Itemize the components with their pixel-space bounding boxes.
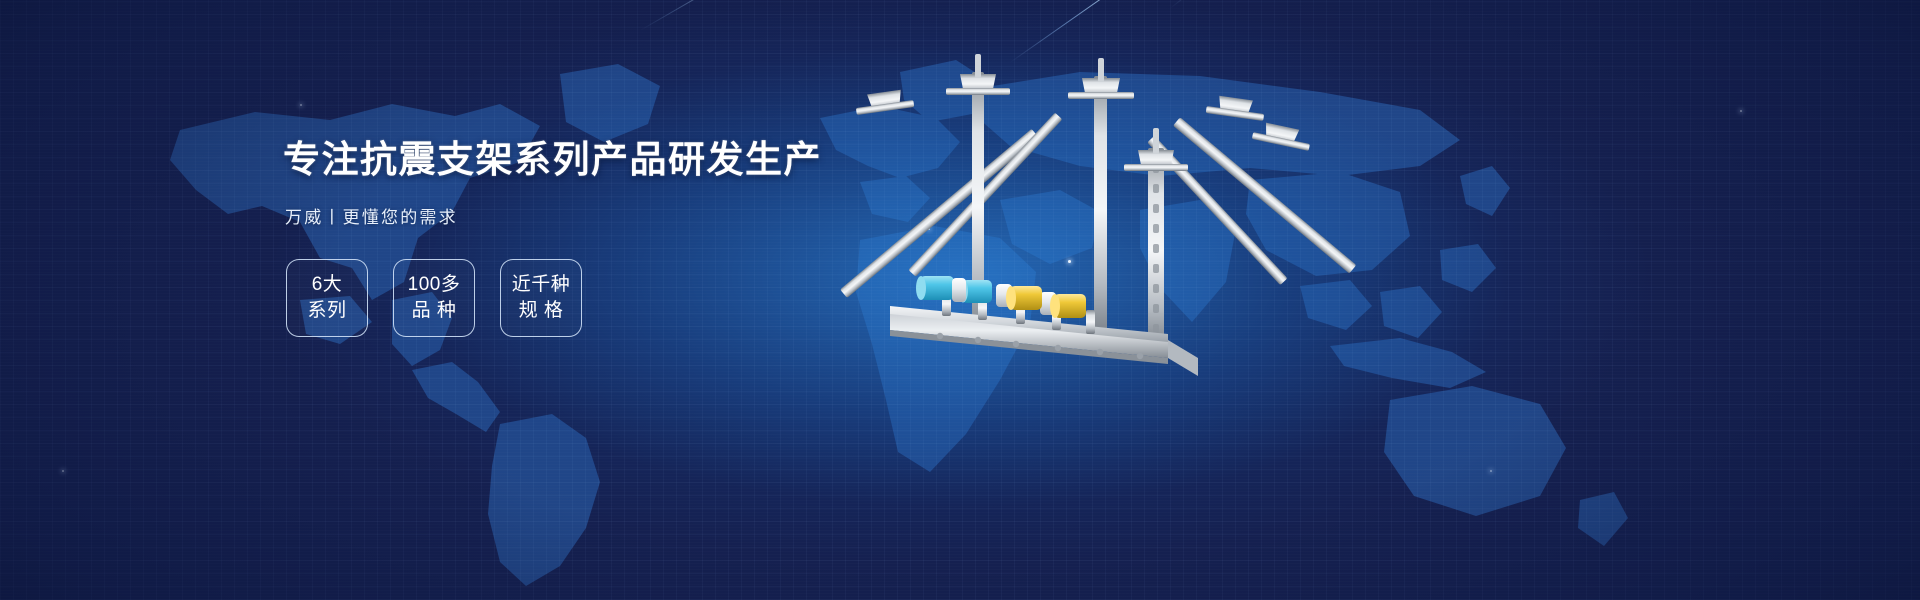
stat-badge-varieties[interactable]: 100多 品 种 [393,259,475,337]
hero-copy-block: 专注抗震支架系列产品研发生产 万威丨更懂您的需求 6大 系列 100多 品 种 … [283,140,803,337]
beam-clamp [856,54,1310,171]
stat-badge-specifications[interactable]: 近千种 规 格 [500,259,582,337]
hero-banner: 专注抗震支架系列产品研发生产 万威丨更懂您的需求 6大 系列 100多 品 种 … [0,0,1920,600]
stat-badge-line1: 近千种 [512,272,571,297]
page-subtitle: 万威丨更懂您的需求 [285,203,803,228]
stat-badge-line2: 系列 [307,298,346,323]
stat-badge-line2: 规 格 [519,298,564,323]
page-title: 专注抗震支架系列产品研发生产 [283,140,803,181]
stat-badge-line2: 品 种 [412,298,457,323]
product-image [820,40,1380,440]
stat-badge-series[interactable]: 6大 系列 [286,259,368,337]
stat-badge-line1: 6大 [312,272,343,297]
stat-badge-line1: 100多 [408,272,461,297]
slotted-channel-post [1148,148,1164,354]
stat-badge-group: 6大 系列 100多 品 种 近千种 规 格 [286,259,803,337]
